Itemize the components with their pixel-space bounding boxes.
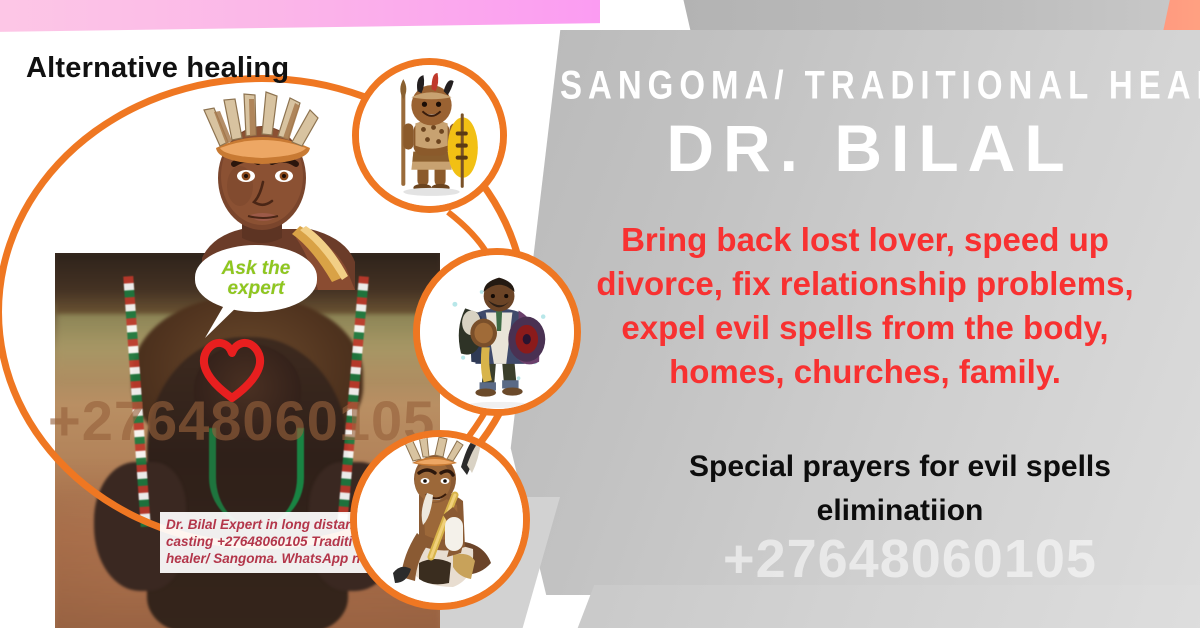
inset-circle-zulu-warrior	[352, 58, 507, 213]
prayers-line-2: eliminatiion	[600, 489, 1200, 533]
zulu-warrior-cartoon-icon	[359, 65, 500, 206]
banner-stage: +27648060105 Ask the expert Dr. Bilal Ex…	[0, 0, 1200, 628]
top-orange-accent-bar	[1163, 0, 1200, 32]
top-gray-accent-bar	[683, 0, 1200, 32]
crouching-warrior-illustration-icon	[357, 437, 523, 603]
ask-the-expert-line-2: expert	[227, 278, 284, 299]
services-line-4: homes, churches, family.	[540, 350, 1190, 394]
top-pink-accent-bar	[0, 0, 600, 32]
top-orange-accent-bar-fill	[1163, 0, 1200, 32]
phone-watermark: +27648060105	[620, 528, 1200, 590]
services-line-1: Bring back lost lover, speed up	[540, 218, 1190, 262]
heart-icon	[196, 336, 268, 402]
right-gray-panel-footer	[575, 585, 1200, 628]
alternative-healing-heading: Alternative healing	[26, 52, 289, 85]
services-text: Bring back lost lover, speed up divorce,…	[540, 218, 1190, 394]
kicker-text: SANGOMA/ TRADITIONAL HEALER	[560, 62, 1180, 108]
ask-the-expert-text: Ask the expert	[222, 259, 291, 299]
services-line-3: expel evil spells from the body,	[540, 306, 1190, 350]
page-title: DR. BILAL	[560, 110, 1180, 186]
ask-the-expert-line-1: Ask the	[222, 258, 291, 279]
prayers-line-1: Special prayers for evil spells	[600, 445, 1200, 489]
ask-the-expert-bubble: Ask the expert	[195, 245, 317, 312]
heart-icon-svg	[196, 336, 268, 402]
services-line-2: divorce, fix relationship problems,	[540, 262, 1190, 306]
special-prayers-text: Special prayers for evil spells eliminat…	[600, 445, 1200, 533]
inset-circle-crouching-warrior	[350, 430, 530, 610]
